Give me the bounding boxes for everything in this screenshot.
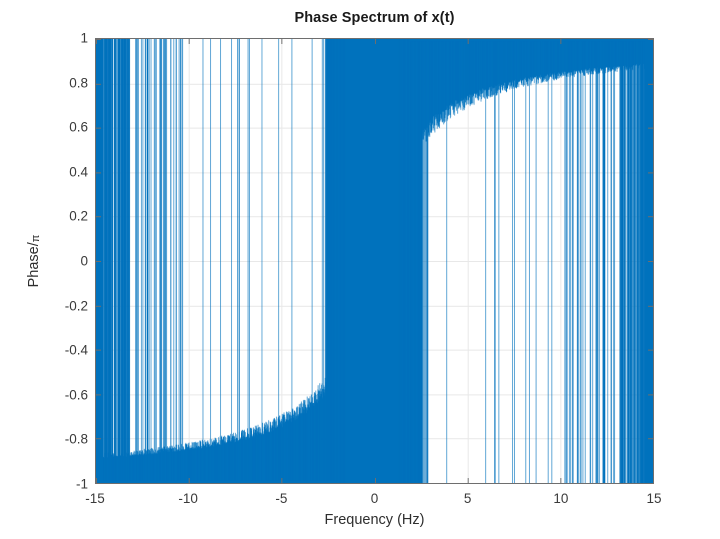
phase-spectrum-plot[interactable] — [96, 39, 653, 483]
y-tick-label: -0.4 — [65, 343, 88, 358]
chart-title: Phase Spectrum of x(t) — [95, 10, 654, 26]
x-tick-label: -15 — [85, 491, 105, 506]
y-tick-label: 0.4 — [69, 164, 88, 179]
y-tick-label: 0 — [80, 254, 88, 269]
x-tick-label: 10 — [553, 491, 568, 506]
y-tick-label: 0.6 — [69, 120, 88, 135]
y-axis-label: Phase/π — [26, 38, 42, 484]
y-tick-label: -1 — [76, 477, 88, 492]
x-tick-label: 5 — [464, 491, 472, 506]
y-tick-label: -0.8 — [65, 432, 88, 447]
x-tick-label: 15 — [646, 491, 661, 506]
y-tick-label: 1 — [80, 31, 88, 46]
y-tick-label: -0.6 — [65, 387, 88, 402]
y-tick-label: -0.2 — [65, 298, 88, 313]
y-axis-tick-labels: -1-0.8-0.6-0.4-0.200.20.40.60.81 — [0, 38, 88, 484]
x-tick-label: -5 — [275, 491, 287, 506]
x-axis-label: Frequency (Hz) — [95, 512, 654, 528]
x-tick-label: -10 — [178, 491, 198, 506]
y-tick-label: 0.8 — [69, 75, 88, 90]
figure-canvas: Phase Spectrum of x(t) -1-0.8-0.6-0.4-0.… — [0, 0, 720, 539]
plot-area[interactable] — [95, 38, 654, 484]
y-axis-label-pi: π — [30, 235, 42, 243]
x-tick-label: 0 — [371, 491, 379, 506]
y-tick-label: 0.2 — [69, 209, 88, 224]
y-axis-label-main: Phase/ — [26, 242, 42, 287]
x-axis-tick-labels: -15-10-5051015 — [95, 489, 654, 513]
